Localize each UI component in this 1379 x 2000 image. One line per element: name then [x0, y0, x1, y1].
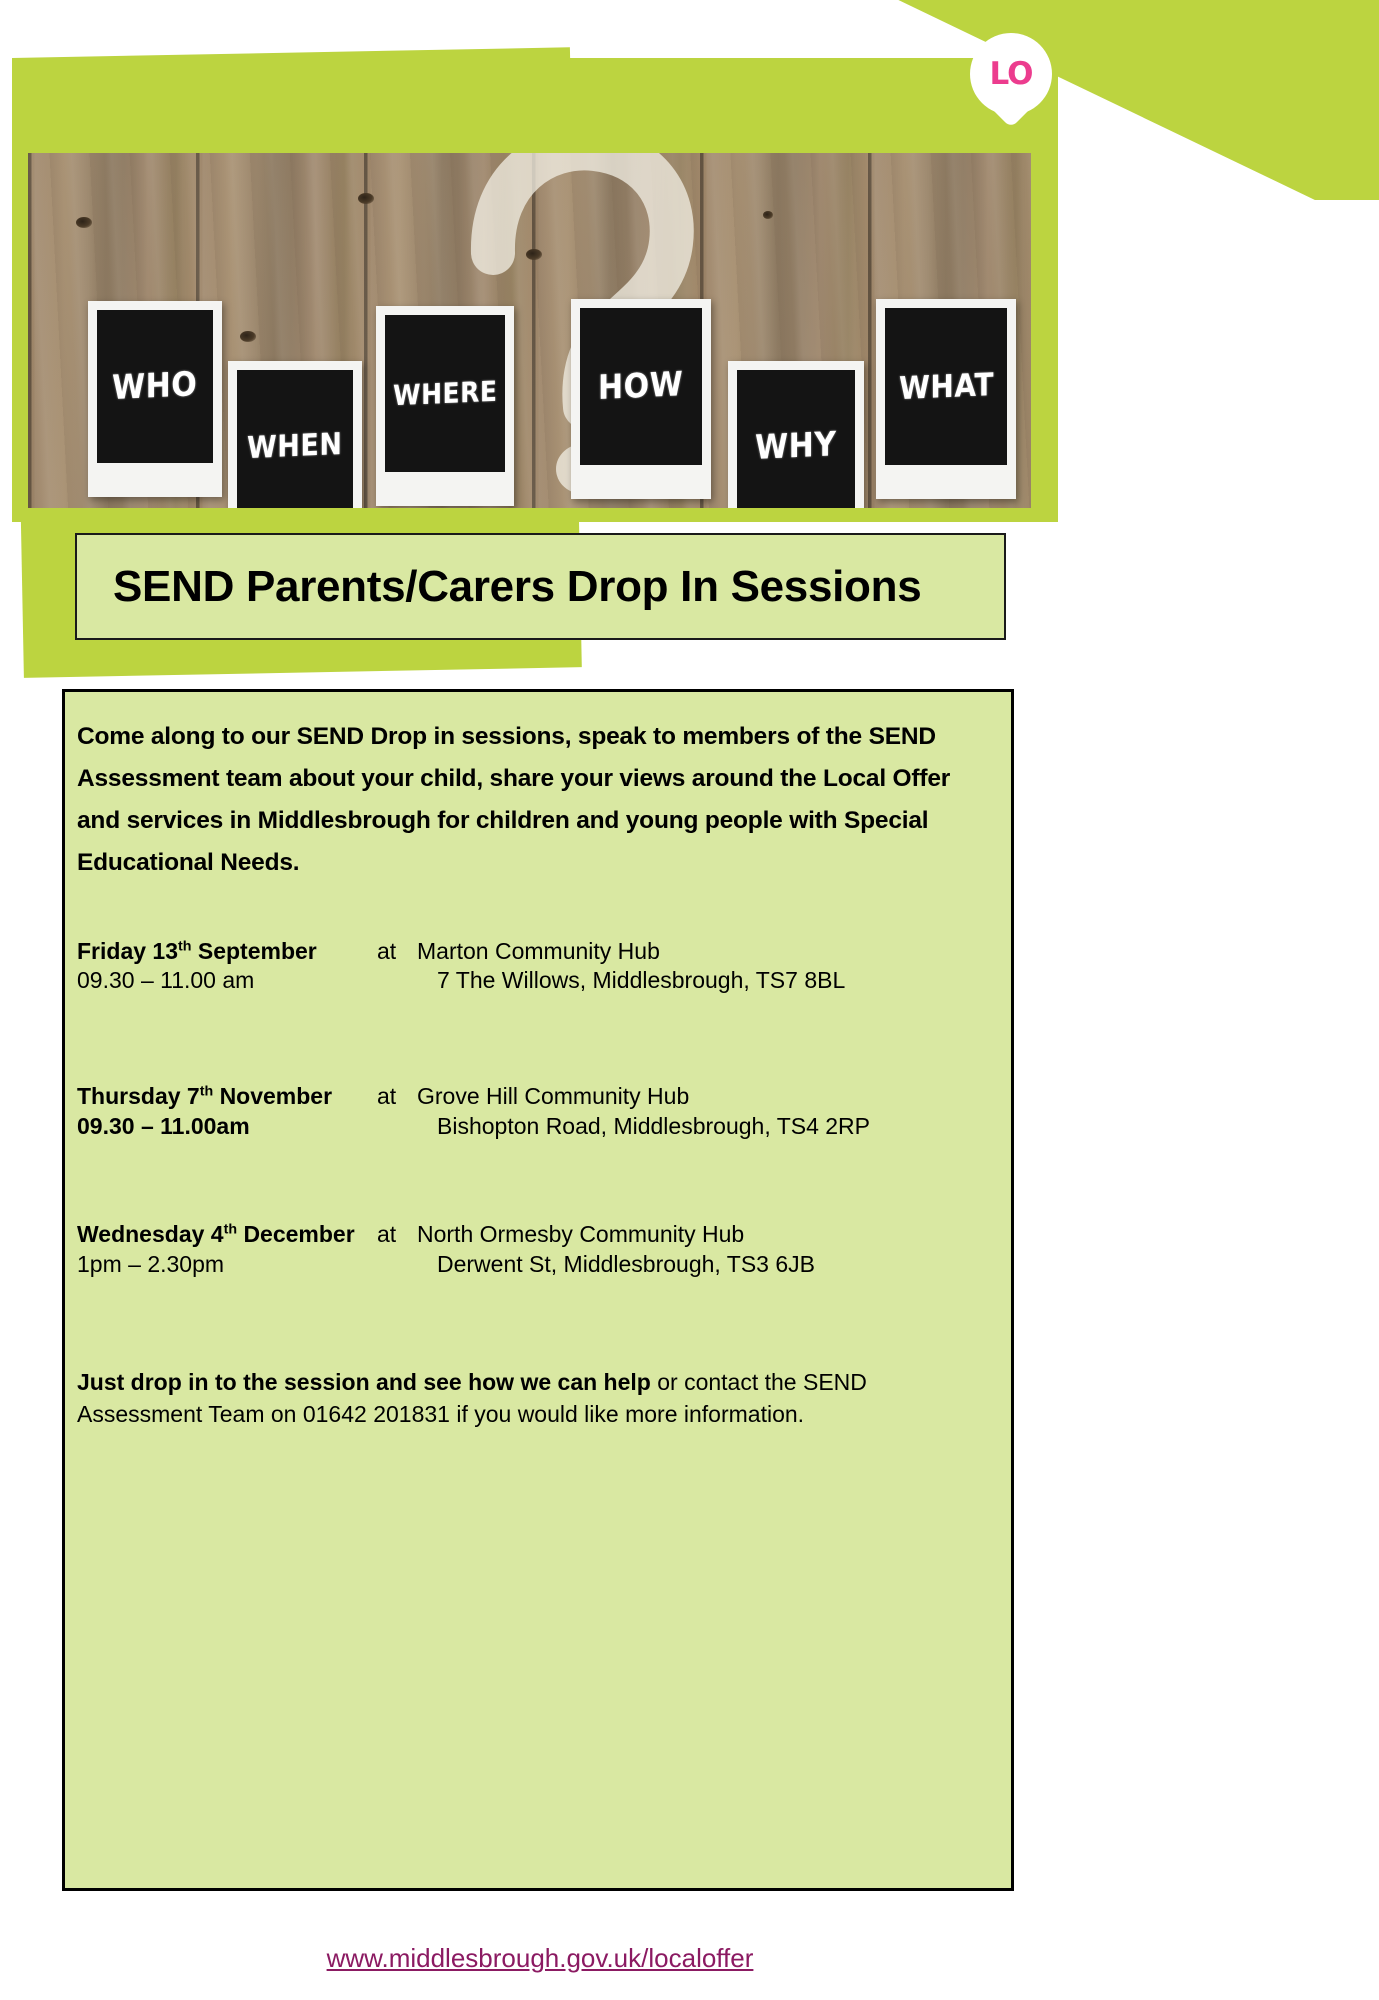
- pin-label: LO: [970, 33, 1052, 115]
- chalk-label-what: WHAT: [899, 369, 994, 405]
- chalkboard-sign: WHERE: [376, 306, 514, 506]
- session-address: Bishopton Road, Middlesbrough, TS4 2RP: [417, 1112, 870, 1142]
- chalk-label-how: HOW: [598, 368, 683, 405]
- chalkboard-sign: WHY: [728, 361, 864, 508]
- session-time: 1pm – 2.30pm: [77, 1250, 377, 1280]
- session-time: 09.30 – 11.00am: [77, 1112, 377, 1142]
- session-entry: Thursday 7th November at Grove Hill Comm…: [77, 1082, 989, 1142]
- header-photo: WHO WHEN WHERE HOW WHY WHAT: [28, 153, 1031, 508]
- session-address: 7 The Willows, Middlesbrough, TS7 8BL: [417, 966, 845, 996]
- session-entry: Wednesday 4th December at North Ormesby …: [77, 1220, 989, 1280]
- session-venue: North Ormesby Community Hub: [417, 1220, 744, 1250]
- chalkboard-sign: HOW: [571, 299, 711, 499]
- session-at-label: at: [377, 937, 417, 967]
- session-date: Thursday 7th November: [77, 1082, 377, 1112]
- chalk-label-when: WHEN: [247, 429, 342, 463]
- local-offer-url-link[interactable]: www.middlesbrough.gov.uk/localoffer: [327, 1943, 754, 1973]
- poster-title-box: SEND Parents/Carers Drop In Sessions: [75, 533, 1006, 640]
- intro-paragraph: Come along to our SEND Drop in sessions,…: [77, 716, 989, 885]
- chalkboard-sign: WHAT: [876, 299, 1016, 499]
- footer: www.middlesbrough.gov.uk/localoffer: [0, 1943, 1080, 1974]
- session-venue: Grove Hill Community Hub: [417, 1082, 689, 1112]
- chalk-label-why: WHY: [755, 428, 836, 465]
- session-time: 09.30 – 11.00 am: [77, 966, 377, 996]
- closing-bold: Just drop in to the session and see how …: [77, 1369, 651, 1395]
- local-offer-pin-icon: LO: [970, 33, 1052, 138]
- chalkboard-sign: WHO: [88, 301, 222, 497]
- session-address: Derwent St, Middlesbrough, TS3 6JB: [417, 1250, 815, 1280]
- chalk-label-who: WHO: [112, 368, 197, 405]
- session-at-label: at: [377, 1220, 417, 1250]
- session-date: Wednesday 4th December: [77, 1220, 377, 1250]
- chalkboard-sign: WHEN: [228, 361, 362, 508]
- poster-body: Come along to our SEND Drop in sessions,…: [62, 689, 1014, 1891]
- chalk-label-where: WHERE: [393, 377, 497, 410]
- session-at-label: at: [377, 1082, 417, 1112]
- session-entry: Friday 13th September at Marton Communit…: [77, 937, 989, 997]
- closing-paragraph: Just drop in to the session and see how …: [77, 1366, 989, 1430]
- poster-root: LO WHO WHEN WHERE HOW: [0, 0, 1379, 2000]
- session-date: Friday 13th September: [77, 937, 377, 967]
- session-venue: Marton Community Hub: [417, 937, 660, 967]
- poster-title: SEND Parents/Carers Drop In Sessions: [77, 562, 921, 612]
